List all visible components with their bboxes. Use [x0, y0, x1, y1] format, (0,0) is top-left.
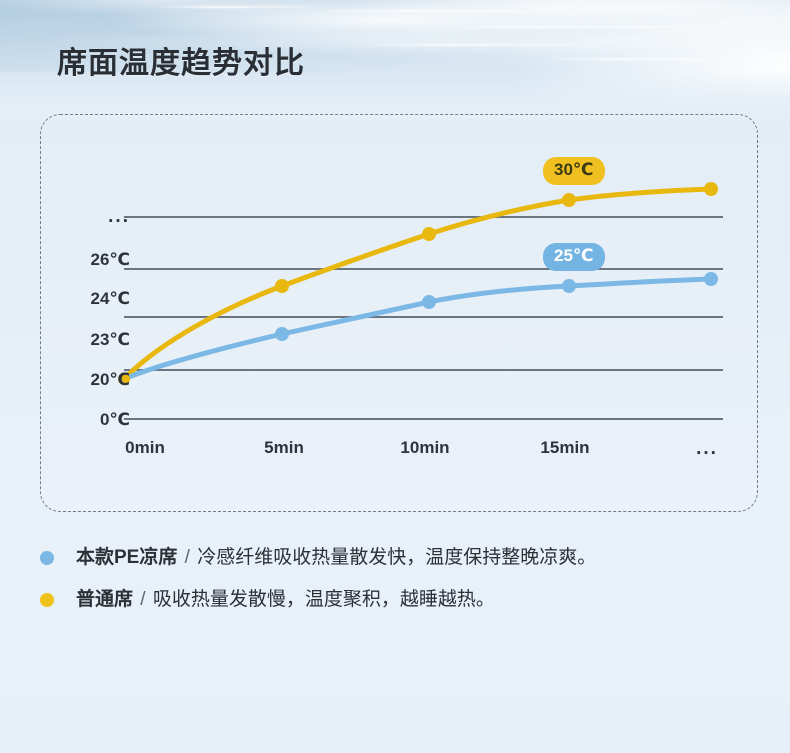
- data-point: [562, 193, 576, 207]
- x-axis-tick-label-0min: 0min: [125, 438, 165, 458]
- legend-bullet-icon: [40, 551, 54, 565]
- chart-card: ... 26℃ 24℃ 23℃ 20℃ 0℃ 0min 5min 10min 1…: [40, 114, 758, 512]
- data-point: [275, 327, 289, 341]
- line-chart: ... 26℃ 24℃ 23℃ 20℃ 0℃ 0min 5min 10min 1…: [41, 115, 759, 513]
- y-axis-tick-label-23c: 23℃: [50, 330, 130, 350]
- wave-ripple-icon: [540, 58, 760, 60]
- legend-item-description: 冷感纤维吸收热量散发快，温度保持整晚凉爽。: [197, 547, 596, 568]
- data-point: [704, 182, 718, 196]
- data-point: [704, 272, 718, 286]
- data-point: [422, 295, 436, 309]
- y-axis-tick-label-26c: 26℃: [50, 250, 130, 270]
- legend-bullet-icon: [40, 593, 54, 607]
- wave-ripple-icon: [150, 6, 330, 8]
- wave-ripple-icon: [300, 10, 600, 12]
- data-label-badge-30c: 30℃: [543, 157, 605, 185]
- legend-item-name: 本款PE凉席: [76, 547, 177, 568]
- page-title: 席面温度趋势对比: [57, 38, 305, 82]
- x-axis-tick-label-10min: 10min: [400, 438, 449, 458]
- x-axis-tick-label-5min: 5min: [264, 438, 304, 458]
- x-axis-tick-label-ellipsis: ...: [696, 438, 718, 460]
- y-axis-tick-label-20c: 20℃: [50, 370, 130, 390]
- wave-ripple-icon: [360, 44, 610, 46]
- legend-separator: /: [183, 547, 192, 568]
- data-point: [422, 227, 436, 241]
- legend-item-pe-mat: 本款PE凉席 / 冷感纤维吸收热量散发快，温度保持整晚凉爽。: [40, 544, 760, 572]
- wave-ripple-icon: [420, 26, 760, 28]
- data-point: [275, 279, 289, 293]
- x-axis-tick-label-15min: 15min: [540, 438, 589, 458]
- y-axis-tick-label-0c: 0℃: [50, 410, 130, 430]
- data-point: [562, 279, 576, 293]
- series-line-pe-mat: [124, 279, 711, 379]
- legend-item-description: 吸收热量发散慢，温度聚积，越睡越热。: [153, 589, 495, 610]
- legend-separator: /: [138, 589, 147, 610]
- legend-item-ordinary-mat: 普通席 / 吸收热量发散慢，温度聚积，越睡越热。: [40, 586, 760, 614]
- legend-item-name: 普通席: [76, 589, 133, 610]
- data-label-badge-25c: 25℃: [543, 243, 605, 271]
- chart-legend: 本款PE凉席 / 冷感纤维吸收热量散发快，温度保持整晚凉爽。 普通席 / 吸收热…: [40, 544, 760, 627]
- y-axis-tick-label-24c: 24℃: [50, 289, 130, 309]
- y-axis-tick-label-ellipsis: ...: [50, 206, 130, 228]
